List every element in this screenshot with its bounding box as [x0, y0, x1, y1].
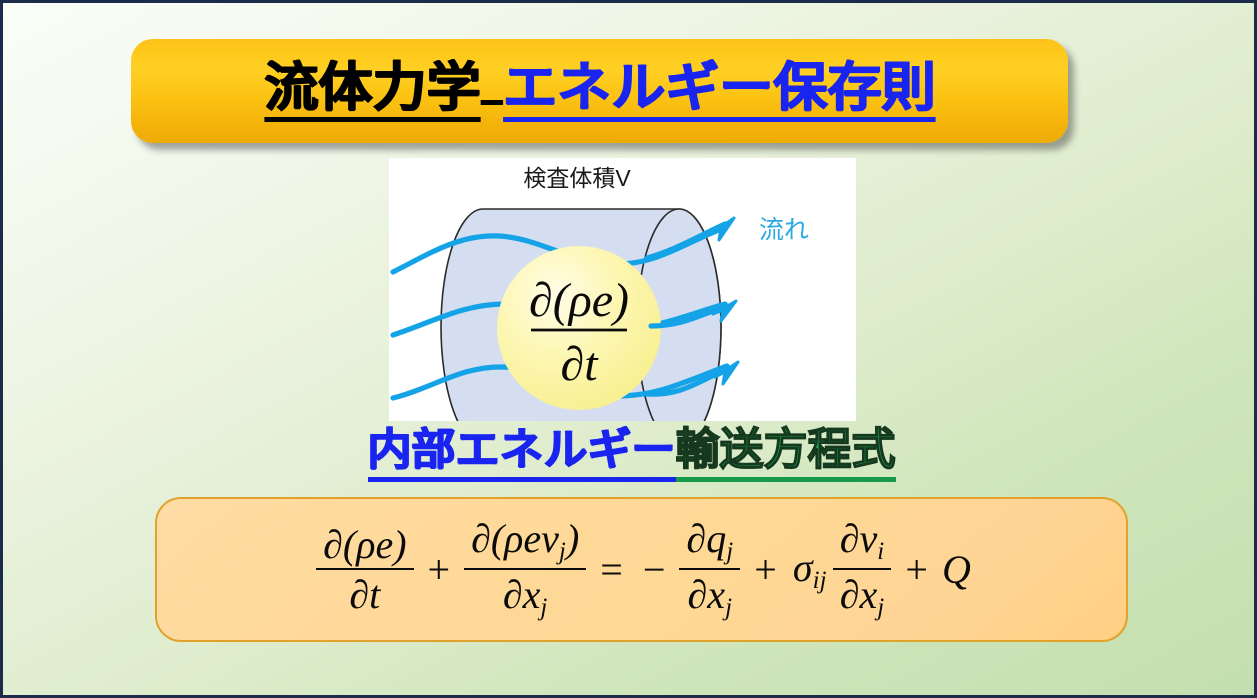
term2-num-a: ∂(ρev — [471, 516, 559, 561]
operator-equals: = — [600, 546, 623, 593]
operator-plus-1: + — [428, 546, 451, 593]
term3-denominator: ∂xj — [679, 568, 740, 622]
term2-den-a: ∂x — [503, 572, 541, 617]
diagram-svg: 検査体積V ∂(ρe) — [389, 158, 856, 421]
term-convection: ∂(ρevj) ∂xj — [464, 517, 586, 621]
term1-numerator: ∂(ρe) — [316, 523, 413, 568]
term3-num-sub: j — [726, 538, 733, 565]
operator-minus: − — [643, 546, 666, 593]
title-topic: エネルギー保存則 — [503, 61, 935, 122]
term-source-Q: Q — [942, 546, 971, 593]
term3-num-a: ∂q — [686, 516, 726, 561]
equation-box: ∂(ρe) ∂t + ∂(ρevj) ∂xj = − ∂qj ∂xj + σij… — [155, 497, 1128, 642]
term2-numerator: ∂(ρevj) — [464, 517, 586, 568]
sigma-symbol: σ — [793, 545, 813, 590]
term3-den-sub: j — [725, 594, 732, 621]
term-velocity-gradient: ∂vi ∂xj — [833, 517, 892, 621]
term-heat-flux: ∂qj ∂xj — [679, 517, 740, 621]
term1-denominator: ∂t — [316, 568, 413, 616]
term3-numerator: ∂qj — [679, 517, 740, 568]
title-subject: 流体力学 — [264, 61, 480, 122]
term4-den-sub: j — [877, 594, 884, 621]
control-volume-diagram: 検査体積V ∂(ρe) — [389, 158, 856, 421]
term2-num-b: ) — [566, 516, 579, 561]
term4-denominator: ∂xj — [833, 568, 892, 622]
operator-plus-3: + — [905, 546, 928, 593]
section-subtitle: 内部エネルギー輸送方程式 — [3, 427, 1257, 482]
sigma-subscript: ij — [813, 567, 827, 594]
sphere-formula-denominator: ∂t — [560, 338, 599, 391]
term4-numerator: ∂vi — [833, 517, 892, 568]
page-title: 流体力学エネルギー保存則 — [264, 61, 935, 122]
term3-den-a: ∂x — [688, 572, 726, 617]
term4-num-sub: i — [877, 538, 884, 565]
subtitle-inner: 内部エネルギー輸送方程式 — [368, 427, 896, 482]
subtitle-part-transport-equation: 輸送方程式 — [676, 427, 896, 482]
title-banner: 流体力学エネルギー保存則 — [131, 39, 1068, 143]
term2-num-sub: j — [559, 538, 566, 565]
stress-tensor-sigma: σij — [793, 544, 827, 595]
term4-den-a: ∂x — [840, 572, 878, 617]
term4-num-a: ∂v — [840, 516, 878, 561]
slide-canvas: 流体力学エネルギー保存則 検査体積V — [0, 0, 1257, 698]
flow-label: 流れ — [759, 216, 809, 244]
term-dpe-dt: ∂(ρe) ∂t — [316, 523, 413, 616]
sphere-formula-numerator: ∂(ρe) — [529, 274, 629, 327]
subtitle-part-internal-energy: 内部エネルギー — [368, 427, 676, 482]
energy-transport-equation: ∂(ρe) ∂t + ∂(ρevj) ∂xj = − ∂qj ∂xj + σij… — [312, 517, 971, 621]
operator-plus-2: + — [754, 546, 777, 593]
term2-den-sub: j — [540, 594, 547, 621]
term2-denominator: ∂xj — [464, 568, 586, 622]
control-volume-label: 検査体積V — [523, 165, 631, 191]
title-separator — [480, 97, 502, 105]
